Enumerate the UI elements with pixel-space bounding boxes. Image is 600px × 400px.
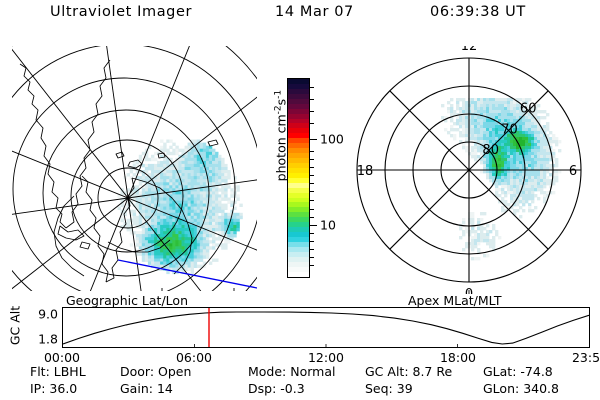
aurora-pixel [185,252,188,255]
aurora-pixel [185,158,188,161]
aurora-pixel [528,146,531,149]
aurora-pixel [483,107,486,110]
aurora-pixel [215,219,218,222]
aurora-pixel [169,255,172,258]
aurora-pixel [552,191,555,194]
aurora-pixel [191,170,194,173]
aurora-pixel [519,173,522,176]
aurora-pixel [212,222,215,225]
aurora-pixel [145,234,148,237]
aurora-pixel [185,191,188,194]
aurora-pixel [151,222,154,225]
aurora-pixel [218,231,221,234]
aurora-pixel [507,182,510,185]
aurora-pixel [227,234,230,237]
status-field-dsp: Dsp: -0.3 [248,381,305,396]
aurora-pixel [531,134,534,137]
aurora-pixel [483,236,486,239]
aurora-pixel [543,185,546,188]
timeline-ytick-low: 1.8 [38,332,58,347]
aurora-pixel [546,182,549,185]
aurora-pixel [191,152,194,155]
aurora-pixel [495,182,498,185]
aurora-pixel [178,222,181,225]
aurora-pixel [191,173,194,176]
aurora-pixel [148,234,151,237]
aurora-pixel [203,249,206,252]
aurora-pixel [218,219,221,222]
aurora-pixel [142,152,145,155]
aurora-pixel [130,243,133,246]
aurora-pixel [528,185,531,188]
aurora-pixel [471,155,474,158]
aurora-pixel [504,185,507,188]
aurora-pixel [525,149,528,152]
aurora-pixel [188,219,191,222]
aurora-pixel [212,228,215,231]
aurora-pixel [206,249,209,252]
aurora-pixel [555,176,558,179]
aurora-pixel [507,185,510,188]
aurora-pixel [182,255,185,258]
aurora-pixel [471,110,474,113]
aurora-pixel [510,176,513,179]
aurora-pixel [145,228,148,231]
aurora-pixel [230,234,233,237]
aurora-pixel [465,227,468,230]
aurora-pixel [477,221,480,224]
aurora-pixel [498,173,501,176]
aurora-pixel [525,179,528,182]
aurora-pixel [148,262,151,265]
aurora-pixel [200,176,203,179]
aurora-pixel [188,204,191,207]
aurora-pixel [489,125,492,128]
aurora-pixel [148,228,151,231]
aurora-pixel [504,143,507,146]
aurora-pixel [127,222,130,225]
aurora-pixel [483,212,486,215]
aurora-pixel [166,237,169,240]
aurora-pixel [154,164,157,167]
aurora-pixel [540,140,543,143]
aurora-pixel [139,246,142,249]
aurora-pixel [151,252,154,255]
aurora-pixel [221,213,224,216]
aurora-pixel [531,179,534,182]
aurora-pixel [218,198,221,201]
aurora-pixel [236,213,239,216]
aurora-pixel [474,128,477,131]
aurora-pixel [133,173,136,176]
aurora-pixel [118,207,121,210]
aurora-pixel [166,271,169,274]
aurora-pixel [540,158,543,161]
aurora-pixel [498,104,501,107]
aurora-pixel [127,173,130,176]
aurora-pixel [513,158,516,161]
aurora-pixel [516,203,519,206]
aurora-pixel [157,216,160,219]
aurora-pixel [175,194,178,197]
aurora-pixel [188,234,191,237]
aurora-pixel [203,176,206,179]
aurora-pixel [543,197,546,200]
aurora-pixel [546,149,549,152]
aurora-pixel [480,137,483,140]
aurora-pixel [513,182,516,185]
aurora-pixel [474,257,477,260]
aurora-pixel [507,98,510,101]
aurora-pixel [215,216,218,219]
aurora-pixel [465,149,468,152]
aurora-pixel [182,176,185,179]
aurora-pixel [531,146,534,149]
aurora-pixel [142,207,145,210]
aurora-pixel [471,137,474,140]
aurora-pixel [188,158,191,161]
aurora-pixel [191,228,194,231]
aurora-pixel [212,234,215,237]
aurora-pixel [169,234,172,237]
aurora-pixel [163,225,166,228]
aurora-pixel [215,210,218,213]
aurora-pixel [206,216,209,219]
aurora-pixel [215,222,218,225]
aurora-pixel [486,233,489,236]
aurora-pixel [145,170,148,173]
aurora-pixel [236,219,239,222]
aurora-pixel [142,259,145,262]
aurora-pixel [495,233,498,236]
aurora-pixel [471,212,474,215]
aurora-pixel [486,230,489,233]
status-value-glon: 340.8 [523,381,559,396]
aurora-pixel [233,213,236,216]
aurora-pixel [148,188,151,191]
aurora-pixel [486,158,489,161]
aurora-pixel [145,198,148,201]
colorbar-minor-tick [309,233,314,234]
aurora-pixel [224,164,227,167]
aurora-pixel [471,215,474,218]
aurora-pixel [498,158,501,161]
mlat-label: 70 [501,122,518,137]
aurora-pixel [492,176,495,179]
timeline-plot-frame[interactable] [62,307,590,348]
aurora-pixel [546,164,549,167]
aurora-pixel [172,219,175,222]
aurora-pixel [477,146,480,149]
aurora-pixel [543,110,546,113]
aurora-pixel [185,265,188,268]
aurora-pixel [209,155,212,158]
aurora-pixel [489,176,492,179]
aurora-pixel [221,164,224,167]
geographic-map-panel[interactable] [12,46,257,291]
aurora-pixel [136,185,139,188]
aurora-pixel [151,262,154,265]
aurora-pixel [218,161,221,164]
status-label-ip: IP: [30,381,49,396]
aurora-pixel [163,173,166,176]
aurora-pixel [537,143,540,146]
aurora-pixel [441,104,444,107]
aurora-pixel [546,122,549,125]
aurora-pixel [507,173,510,176]
aurora-pixel [212,198,215,201]
aurora-pixel [513,101,516,104]
aurora-pixel [543,155,546,158]
aurora-pixel [145,225,148,228]
status-label-gc-alt: GC Alt: [365,364,413,379]
aurora-pixel [188,179,191,182]
aurora-pixel [552,134,555,137]
status-value-seq: 39 [397,381,413,396]
aurora-pixel [489,173,492,176]
aurora-pixel [194,252,197,255]
aurora-pixel [191,213,194,216]
aurora-pixel [200,182,203,185]
aurora-pixel [504,98,507,101]
aurora-pixel [555,164,558,167]
aurora-pixel [182,243,185,246]
aurora-pixel [209,240,212,243]
aurora-pixel [178,164,181,167]
aurora-pixel [510,164,513,167]
aurora-pixel [531,128,534,131]
aurora-pixel [528,122,531,125]
aurora-pixel [182,158,185,161]
aurora-pixel [197,146,200,149]
aurora-pixel [510,200,513,203]
aurora-pixel [203,210,206,213]
aurora-pixel [534,173,537,176]
aurora-pixel [507,149,510,152]
aurora-pixel [200,246,203,249]
aurora-pixel [157,259,160,262]
aurora-pixel [209,216,212,219]
observation-time: 06:39:38 UT [430,4,526,20]
aurora-pixel [224,207,227,210]
apex-polar-panel[interactable]: 121806607080 [345,46,593,294]
aurora-pixel [206,161,209,164]
aurora-pixel [221,176,224,179]
aurora-pixel [182,149,185,152]
aurora-pixel [209,246,212,249]
aurora-pixel [453,110,456,113]
aurora-pixel [206,234,209,237]
apex-polar-canvas: 121806607080 [345,46,593,294]
aurora-pixel [504,191,507,194]
aurora-pixel [471,221,474,224]
aurora-pixel [139,252,142,255]
aurora-pixel [200,201,203,204]
aurora-pixel [480,107,483,110]
aurora-pixel [513,104,516,107]
aurora-pixel [537,155,540,158]
aurora-pixel [139,240,142,243]
aurora-pixel [200,213,203,216]
aurora-pixel [540,185,543,188]
aurora-pixel [191,164,194,167]
aurora-pixel [203,237,206,240]
aurora-pixel [471,107,474,110]
aurora-pixel [537,188,540,191]
aurora-pixel [163,216,166,219]
aurora-pixel [221,198,224,201]
aurora-pixel [212,194,215,197]
aurora-pixel [188,152,191,155]
aurora-pixel [212,201,215,204]
aurora-pixel [555,140,558,143]
aurora-pixel [528,134,531,137]
aurora-pixel [203,234,206,237]
aurora-pixel [182,231,185,234]
aurora-pixel [236,228,239,231]
aurora-pixel [492,131,495,134]
aurora-pixel [459,125,462,128]
aurora-pixel [534,155,537,158]
aurora-pixel [203,191,206,194]
aurora-pixel [203,198,206,201]
aurora-pixel [200,249,203,252]
aurora-pixel [471,230,474,233]
mlt-label: 12 [461,46,478,54]
aurora-pixel [218,225,221,228]
aurora-pixel [522,125,525,128]
aurora-pixel [182,161,185,164]
aurora-pixel [121,204,124,207]
aurora-pixel [513,146,516,149]
aurora-pixel [492,98,495,101]
aurora-pixel [151,204,154,207]
aurora-pixel [230,231,233,234]
aurora-pixel [194,201,197,204]
timeline-xtick-label: 00:00 [44,350,80,365]
aurora-pixel [194,167,197,170]
aurora-pixel [227,173,230,176]
aurora-pixel [215,204,218,207]
aurora-pixel [513,179,516,182]
aurora-pixel [510,158,513,161]
aurora-pixel [501,185,504,188]
aurora-pixel [209,167,212,170]
aurora-pixel [543,152,546,155]
aurora-pixel [160,161,163,164]
aurora-pixel [169,152,172,155]
aurora-pixel [197,182,200,185]
aurora-pixel [136,237,139,240]
aurora-pixel [501,176,504,179]
aurora-pixel [510,146,513,149]
orbit-altitude-timeline[interactable]: GC Alt 9.0 1.8 00:0006:0012:0018:0023:59 [0,306,600,360]
aurora-pixel [169,210,172,213]
aurora-pixel [495,128,498,131]
aurora-pixel [525,155,528,158]
aurora-pixel [540,161,543,164]
aurora-pixel [549,164,552,167]
aurora-pixel [489,137,492,140]
aurora-pixel [160,198,163,201]
aurora-pixel [224,198,227,201]
aurora-pixel [172,207,175,210]
aurora-pixel [200,204,203,207]
aurora-pixel [531,152,534,155]
aurora-pixel [489,122,492,125]
aurora-pixel [495,110,498,113]
aurora-pixel [191,176,194,179]
aurora-pixel [495,137,498,140]
aurora-pixel [166,179,169,182]
aurora-pixel [531,191,534,194]
aurora-pixel [525,152,528,155]
aurora-pixel [185,237,188,240]
aurora-pixel [148,240,151,243]
aurora-pixel [188,201,191,204]
aurora-pixel [182,164,185,167]
aurora-pixel [148,243,151,246]
aurora-pixel [157,243,160,246]
aurora-pixel [160,225,163,228]
aurora-pixel [489,104,492,107]
aurora-pixel [185,176,188,179]
aurora-pixel [172,246,175,249]
aurora-pixel [212,204,215,207]
aurora-pixel [206,255,209,258]
aurora-pixel [441,116,444,119]
aurora-pixel [157,219,160,222]
aurora-pixel [194,216,197,219]
aurora-pixel [136,204,139,207]
aurora-pixel [215,188,218,191]
aurora-pixel [203,240,206,243]
aurora-pixel [513,113,516,116]
aurora-pixel [218,170,221,173]
aurora-pixel [495,188,498,191]
aurora-pixel [504,194,507,197]
aurora-pixel [154,237,157,240]
aurora-pixel [194,259,197,262]
aurora-pixel [197,222,200,225]
aurora-pixel [477,116,480,119]
aurora-pixel [209,170,212,173]
aurora-pixel [191,155,194,158]
colorbar-minor-tick [309,191,314,192]
aurora-pixel [218,188,221,191]
aurora-pixel [483,134,486,137]
aurora-pixel [510,191,513,194]
aurora-pixel [191,182,194,185]
aurora-pixel [519,197,522,200]
aurora-pixel [178,225,181,228]
aurora-pixel [540,179,543,182]
aurora-pixel [178,167,181,170]
aurora-pixel [185,213,188,216]
aurora-pixel [160,140,163,143]
aurora-pixel [480,134,483,137]
aurora-pixel [166,225,169,228]
apex-grid [357,58,581,282]
colorbar-unit-exp1: -2 [273,105,283,114]
aurora-pixel [224,225,227,228]
aurora-pixel [534,146,537,149]
aurora-pixel [486,224,489,227]
aurora-pixel [474,230,477,233]
status-value-ip: 36.0 [49,381,77,396]
aurora-pixel [489,101,492,104]
aurora-pixel [522,191,525,194]
